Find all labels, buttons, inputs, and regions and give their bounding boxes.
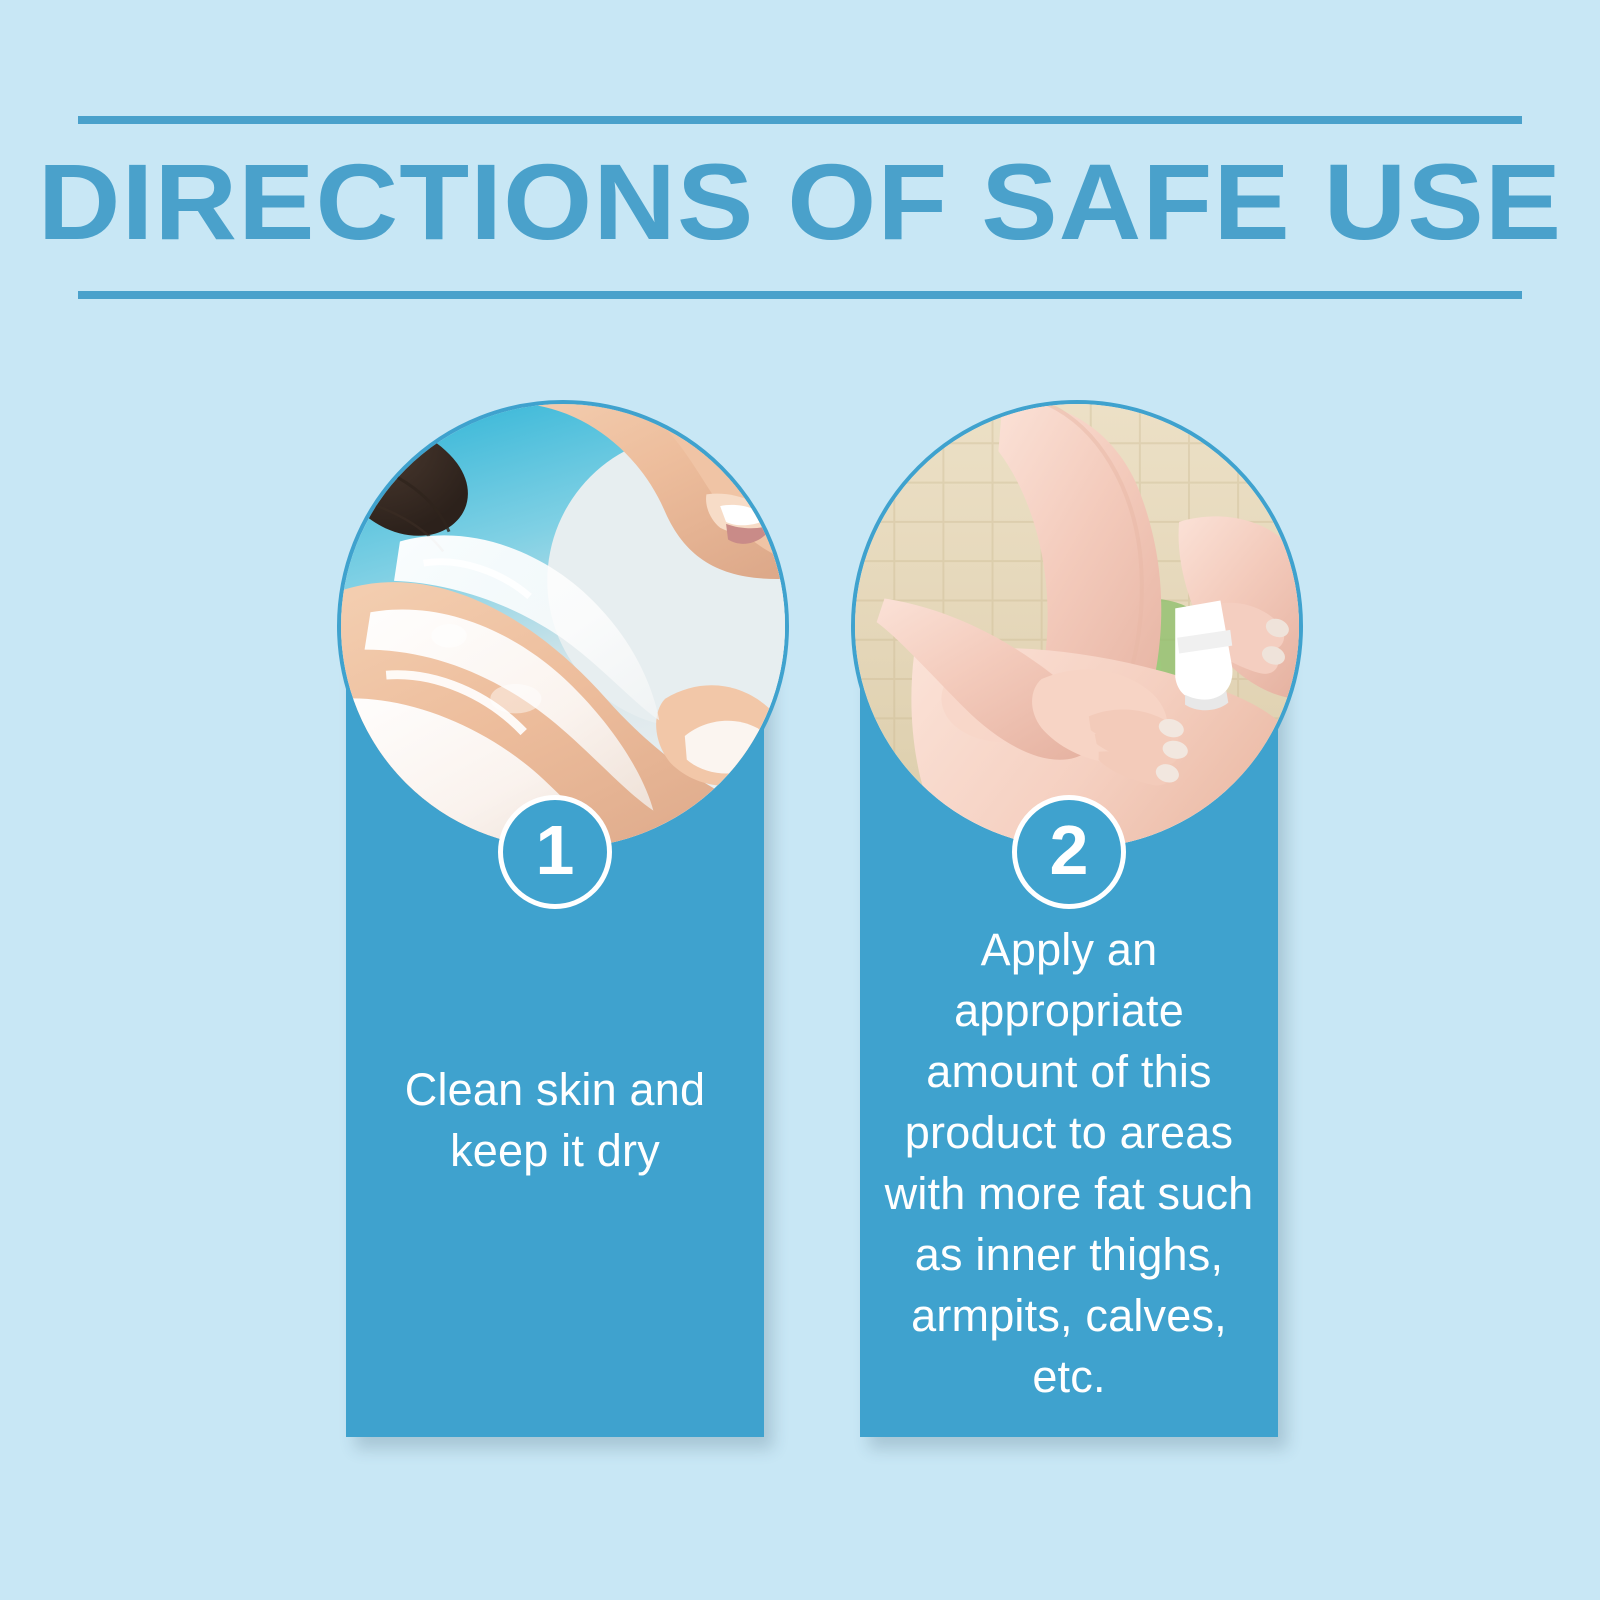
step-1-photo — [337, 400, 789, 852]
step-1-caption: Clean skin and keep it dry — [368, 1059, 742, 1181]
step-2-number-badge: 2 — [1012, 795, 1126, 909]
step-2-photo — [851, 400, 1303, 852]
step-2-caption: Apply an appropriate amount of this prod… — [882, 919, 1256, 1407]
infographic-page: DIRECTIONS OF SAFE USE — [0, 0, 1600, 1600]
step-1-number: 1 — [536, 815, 575, 885]
step-card-1: 1 Clean skin and keep it dry — [346, 404, 764, 1437]
step-2-number: 2 — [1050, 815, 1089, 885]
step-1-number-badge: 1 — [498, 795, 612, 909]
step-card-2: 2 Apply an appropriate amount of this pr… — [860, 404, 1278, 1437]
steps-container: 1 Clean skin and keep it dry — [0, 0, 1600, 1600]
